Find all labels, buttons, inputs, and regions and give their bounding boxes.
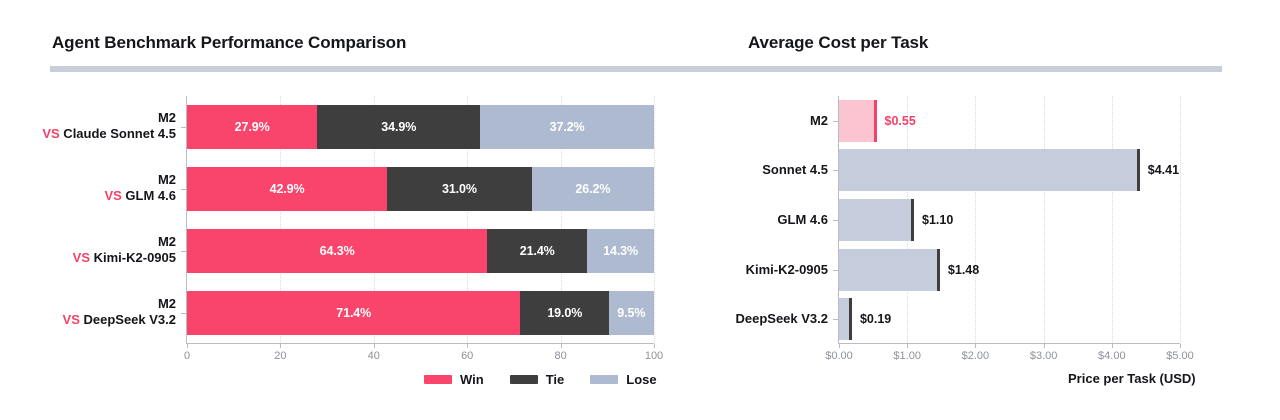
legend-item-tie[interactable]: Tie: [510, 372, 565, 387]
benchmark-row-label: M2VS GLM 4.6: [104, 172, 176, 204]
bar-segment-win[interactable]: 71.4%: [187, 291, 520, 335]
cost-bar-row[interactable]: $0.19: [839, 298, 1180, 340]
stacked-bar-row[interactable]: 27.9%34.9%37.2%: [187, 105, 654, 149]
row-label-opponent: VS Claude Sonnet 4.5: [42, 126, 176, 142]
cost-row-label: GLM 4.6: [777, 212, 828, 228]
cost-x-tick-label: $1.00: [893, 350, 921, 362]
legend-label: Tie: [546, 372, 565, 387]
legend: WinTieLose: [424, 372, 657, 387]
x-tick-label: 100: [645, 350, 663, 362]
legend-swatch-win: [424, 375, 452, 384]
cost-row-label: Kimi-K2-0905: [746, 262, 828, 278]
cost-value-label: $1.48: [948, 263, 979, 277]
bar-segment-win[interactable]: 64.3%: [187, 229, 487, 273]
cost-bar-row[interactable]: $4.41: [839, 149, 1180, 191]
y-tick-mark: [181, 251, 186, 252]
cost-bar[interactable]: [839, 249, 940, 291]
cost-y-tick-mark: [833, 170, 838, 171]
row-label-vs: VS: [104, 188, 121, 203]
cost-value-label: $0.19: [860, 312, 891, 326]
row-label-model: M2: [73, 234, 176, 250]
bar-segment-value: 71.4%: [336, 306, 371, 320]
legend-label: Lose: [626, 372, 656, 387]
bar-segment-tie[interactable]: 19.0%: [520, 291, 609, 335]
cost-bar-cap: [937, 249, 940, 291]
benchmark-row-label: M2VS Kimi-K2-0905: [73, 234, 176, 266]
benchmark-row-label: M2VS Claude Sonnet 4.5: [42, 110, 176, 142]
stacked-bar-row[interactable]: 42.9%31.0%26.2%: [187, 167, 654, 211]
bar-segment-value: 27.9%: [235, 120, 270, 134]
cost-x-tick-label: $3.00: [1030, 350, 1058, 362]
x-tick-mark: [187, 344, 188, 348]
cost-x-tick-mark: [839, 344, 840, 348]
cost-bar-row[interactable]: $1.10: [839, 199, 1180, 241]
cost-bar-cap: [911, 199, 914, 241]
cost-y-tick-mark: [833, 121, 838, 122]
row-label-opponent: VS DeepSeek V3.2: [63, 312, 176, 328]
cost-x-tick-label: $0.00: [825, 350, 853, 362]
x-tick-label: 0: [184, 350, 190, 362]
bar-segment-value: 21.4%: [520, 244, 555, 258]
x-tick-label: 40: [368, 350, 380, 362]
legend-label: Win: [460, 372, 484, 387]
bar-segment-lose[interactable]: 14.3%: [587, 229, 654, 273]
row-label-opponent: VS GLM 4.6: [104, 188, 176, 204]
cost-x-tick-mark: [1180, 344, 1181, 348]
page-title: Agent Benchmark Performance Comparison: [52, 33, 406, 53]
bar-segment-value: 19.0%: [547, 306, 582, 320]
bar-segment-tie[interactable]: 31.0%: [387, 167, 532, 211]
cost-row-label: M2: [810, 113, 828, 129]
bar-segment-value: 37.2%: [550, 120, 585, 134]
legend-item-lose[interactable]: Lose: [590, 372, 656, 387]
row-label-model: M2: [63, 296, 176, 312]
bar-segment-lose[interactable]: 26.2%: [532, 167, 654, 211]
row-label-vs: VS: [42, 126, 59, 141]
cost-x-tick-mark: [975, 344, 976, 348]
cost-x-axis-line: [838, 343, 1180, 344]
cost-bar-row[interactable]: $1.48: [839, 249, 1180, 291]
row-label-vs: VS: [63, 312, 80, 327]
cost-row-label: DeepSeek V3.2: [735, 311, 828, 327]
y-tick-mark: [181, 127, 186, 128]
legend-swatch-lose: [590, 375, 618, 384]
cost-bar[interactable]: [839, 199, 914, 241]
bar-segment-win[interactable]: 42.9%: [187, 167, 387, 211]
x-axis-line: [186, 343, 654, 344]
bar-segment-value: 14.3%: [603, 244, 638, 258]
x-tick-label: 60: [461, 350, 473, 362]
gridline: [1180, 96, 1182, 343]
bar-segment-win[interactable]: 27.9%: [187, 105, 317, 149]
row-label-opponent: VS Kimi-K2-0905: [73, 250, 176, 266]
cost-value-label: $0.55: [885, 114, 916, 128]
cost-bar-cap: [849, 298, 852, 340]
x-tick-mark: [280, 344, 281, 348]
cost-bar[interactable]: [839, 149, 1140, 191]
y-tick-mark: [181, 189, 186, 190]
y-tick-mark: [181, 313, 186, 314]
cost-x-tick-label: $2.00: [962, 350, 990, 362]
bar-segment-lose[interactable]: 37.2%: [480, 105, 654, 149]
x-tick-label: 80: [554, 350, 566, 362]
bar-segment-tie[interactable]: 34.9%: [317, 105, 480, 149]
x-tick-mark: [467, 344, 468, 348]
cost-value-label: $1.10: [922, 213, 953, 227]
row-label-model: M2: [104, 172, 176, 188]
bar-segment-tie[interactable]: 21.4%: [487, 229, 587, 273]
stacked-bar-row[interactable]: 64.3%21.4%14.3%: [187, 229, 654, 273]
cost-value-label: $4.41: [1148, 163, 1179, 177]
benchmark-plot-area: 27.9%34.9%37.2%42.9%31.0%26.2%64.3%21.4%…: [186, 96, 654, 344]
bar-segment-value: 31.0%: [442, 182, 477, 196]
cost-x-tick-label: $4.00: [1098, 350, 1126, 362]
cost-bar[interactable]: [839, 100, 877, 142]
x-tick-label: 20: [274, 350, 286, 362]
bar-segment-value: 42.9%: [270, 182, 305, 196]
row-label-vs: VS: [73, 250, 90, 265]
gridline: [654, 96, 656, 343]
benchmark-row-label: M2VS DeepSeek V3.2: [63, 296, 176, 328]
cost-y-tick-mark: [833, 319, 838, 320]
cost-x-tick-mark: [907, 344, 908, 348]
cost-panel-title: Average Cost per Task: [748, 33, 928, 53]
cost-plot-area: $0.55$4.41$1.10$1.48$0.19: [838, 96, 1180, 344]
cost-bar-cap: [874, 100, 877, 142]
x-tick-mark: [561, 344, 562, 348]
legend-item-win[interactable]: Win: [424, 372, 484, 387]
cost-x-tick-mark: [1112, 344, 1113, 348]
bar-segment-value: 34.9%: [381, 120, 416, 134]
bar-segment-value: 9.5%: [617, 306, 645, 320]
cost-axis-caption: Price per Task (USD): [1068, 371, 1196, 386]
row-label-model: M2: [42, 110, 176, 126]
bar-segment-value: 26.2%: [575, 182, 610, 196]
cost-bar-cap: [1137, 149, 1140, 191]
cost-bar-row[interactable]: $0.55: [839, 100, 1180, 142]
cost-row-label: Sonnet 4.5: [762, 162, 828, 178]
cost-y-tick-mark: [833, 270, 838, 271]
cost-y-tick-mark: [833, 220, 838, 221]
chart-canvas: Agent Benchmark Performance Comparison A…: [0, 0, 1280, 420]
cost-x-tick-mark: [1044, 344, 1045, 348]
stacked-bar-row[interactable]: 71.4%19.0%9.5%: [187, 291, 654, 335]
bar-segment-lose[interactable]: 9.5%: [609, 291, 653, 335]
legend-swatch-tie: [510, 375, 538, 384]
cost-x-tick-label: $5.00: [1166, 350, 1194, 362]
x-tick-mark: [374, 344, 375, 348]
x-tick-mark: [654, 344, 655, 348]
bar-segment-value: 64.3%: [320, 244, 355, 258]
